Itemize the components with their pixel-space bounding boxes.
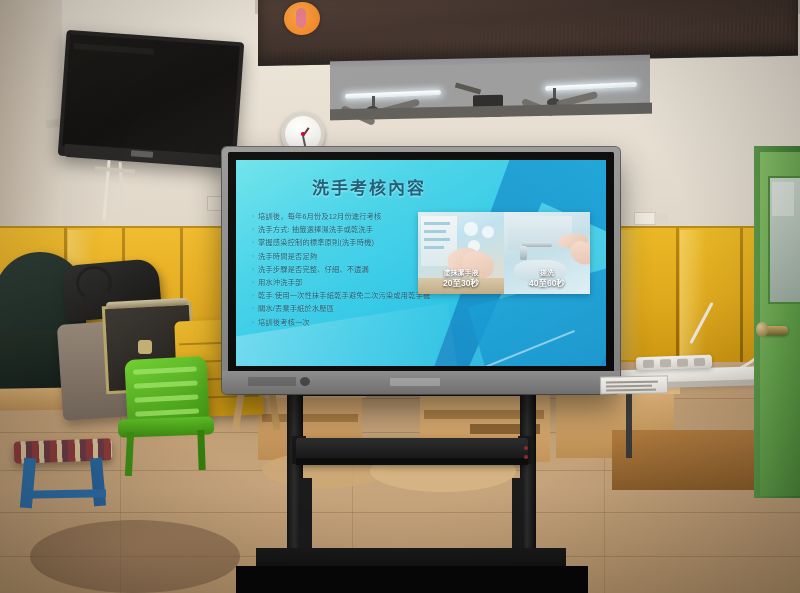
bullet-marker-icon: › bbox=[252, 278, 254, 288]
ir-receiver-icon bbox=[300, 377, 310, 386]
poster-circle bbox=[482, 226, 494, 238]
wall-junction-box bbox=[654, 214, 668, 223]
cart-base-foot bbox=[236, 566, 588, 593]
power-socket[interactable] bbox=[694, 358, 705, 366]
slide-photo-right: 搓洗 40至60秒 bbox=[504, 212, 590, 294]
photo-caption-right-line1: 搓洗 bbox=[504, 270, 590, 277]
bullet-text: 掌握感染控制的標準原則(洗手時機) bbox=[258, 238, 374, 248]
faucet-body bbox=[520, 246, 527, 260]
bullet-text: 關水/丟棄手紙於水壓區 bbox=[258, 304, 334, 314]
poster-line bbox=[424, 222, 450, 225]
photo-caption-left-line1: 塗抹潔手液 bbox=[418, 270, 504, 277]
wall-clock-center-dot bbox=[301, 132, 305, 136]
door-lock-knob[interactable] bbox=[756, 322, 768, 337]
slide-photo-left: 塗抹潔手液 20至30秒 bbox=[418, 212, 504, 294]
trolley-latch bbox=[138, 340, 152, 354]
slide-title: 洗手考核內容 bbox=[236, 174, 502, 199]
bullet-marker-icon: › bbox=[252, 318, 254, 328]
bullet-text: 培訓後考核一次 bbox=[258, 318, 310, 328]
blackboard bbox=[258, 0, 798, 66]
chair-slat bbox=[135, 408, 199, 416]
cart-post bbox=[512, 478, 524, 552]
poster-circle bbox=[464, 222, 478, 236]
magnet-inner-mark bbox=[296, 8, 306, 28]
panel-spec-label bbox=[600, 375, 668, 394]
poster-line bbox=[424, 238, 450, 241]
bullet-marker-icon: › bbox=[252, 291, 254, 301]
classroom-photo-scene: 洗手考核內容 › 培訓後，每年6月份及12月份進行考核 › 洗手方式: 抽籤選擇… bbox=[0, 0, 800, 593]
bullet-text: 洗手步驟是否完整、仔細、不遺漏 bbox=[258, 265, 369, 275]
list-item: › 培訓後考核一次 bbox=[252, 318, 470, 328]
chair-slat bbox=[133, 366, 197, 374]
bullet-marker-icon: › bbox=[252, 304, 254, 314]
panel-control-strip[interactable] bbox=[248, 377, 296, 386]
green-chair-leg bbox=[197, 430, 205, 470]
green-plastic-chair-back bbox=[124, 356, 209, 426]
table-leg bbox=[626, 386, 632, 458]
bullet-text: 用水沖洗手部 bbox=[258, 278, 302, 288]
photo-caption-right-line2: 40至60秒 bbox=[504, 279, 590, 288]
floor-shadow-patch bbox=[30, 520, 240, 593]
bullet-marker-icon: › bbox=[252, 252, 254, 262]
bullet-marker-icon: › bbox=[252, 238, 254, 248]
bullet-text: 洗手時間是否足夠 bbox=[258, 252, 317, 262]
door-window-glare bbox=[772, 182, 794, 216]
chair-slat bbox=[134, 394, 198, 402]
chair-slat bbox=[134, 380, 198, 388]
label-line bbox=[606, 381, 658, 383]
panel-brand-logo bbox=[390, 378, 440, 386]
label-line bbox=[606, 385, 652, 387]
cart-screw bbox=[524, 455, 528, 459]
cart-screw bbox=[524, 446, 528, 450]
bullet-text: 乾手:使用一次性抹手紙乾手避免二次污染或用乾手機 bbox=[258, 291, 430, 301]
power-socket[interactable] bbox=[643, 360, 654, 368]
panel-screen[interactable]: 洗手考核內容 › 培訓後，每年6月份及12月份進行考核 › 洗手方式: 抽籤選擇… bbox=[236, 160, 606, 366]
stool-rail bbox=[22, 489, 106, 498]
list-item: › 關水/丟棄手紙於水壓區 bbox=[252, 304, 470, 314]
bullet-text: 培訓後，每年6月份及12月份進行考核 bbox=[258, 212, 381, 222]
power-strip[interactable] bbox=[636, 355, 712, 371]
bullet-marker-icon: › bbox=[252, 225, 254, 235]
slide-photo: 塗抹潔手液 20至30秒 搓洗 40至60秒 bbox=[418, 212, 590, 294]
cart-shelf-edge bbox=[296, 458, 528, 465]
label-line bbox=[606, 389, 656, 391]
left-wall-shadow bbox=[0, 0, 62, 260]
bullet-marker-icon: › bbox=[252, 265, 254, 275]
wall-junction-box bbox=[634, 212, 656, 225]
power-socket[interactable] bbox=[660, 359, 671, 367]
bullet-marker-icon: › bbox=[252, 212, 254, 222]
cart-post bbox=[300, 478, 312, 552]
power-socket[interactable] bbox=[677, 359, 688, 367]
poster-line bbox=[424, 230, 446, 233]
poster-line bbox=[424, 246, 444, 249]
photo-caption-left-line2: 20至30秒 bbox=[418, 279, 504, 288]
bullet-text: 洗手方式: 抽籤選擇濕洗手或乾洗手 bbox=[258, 225, 373, 235]
